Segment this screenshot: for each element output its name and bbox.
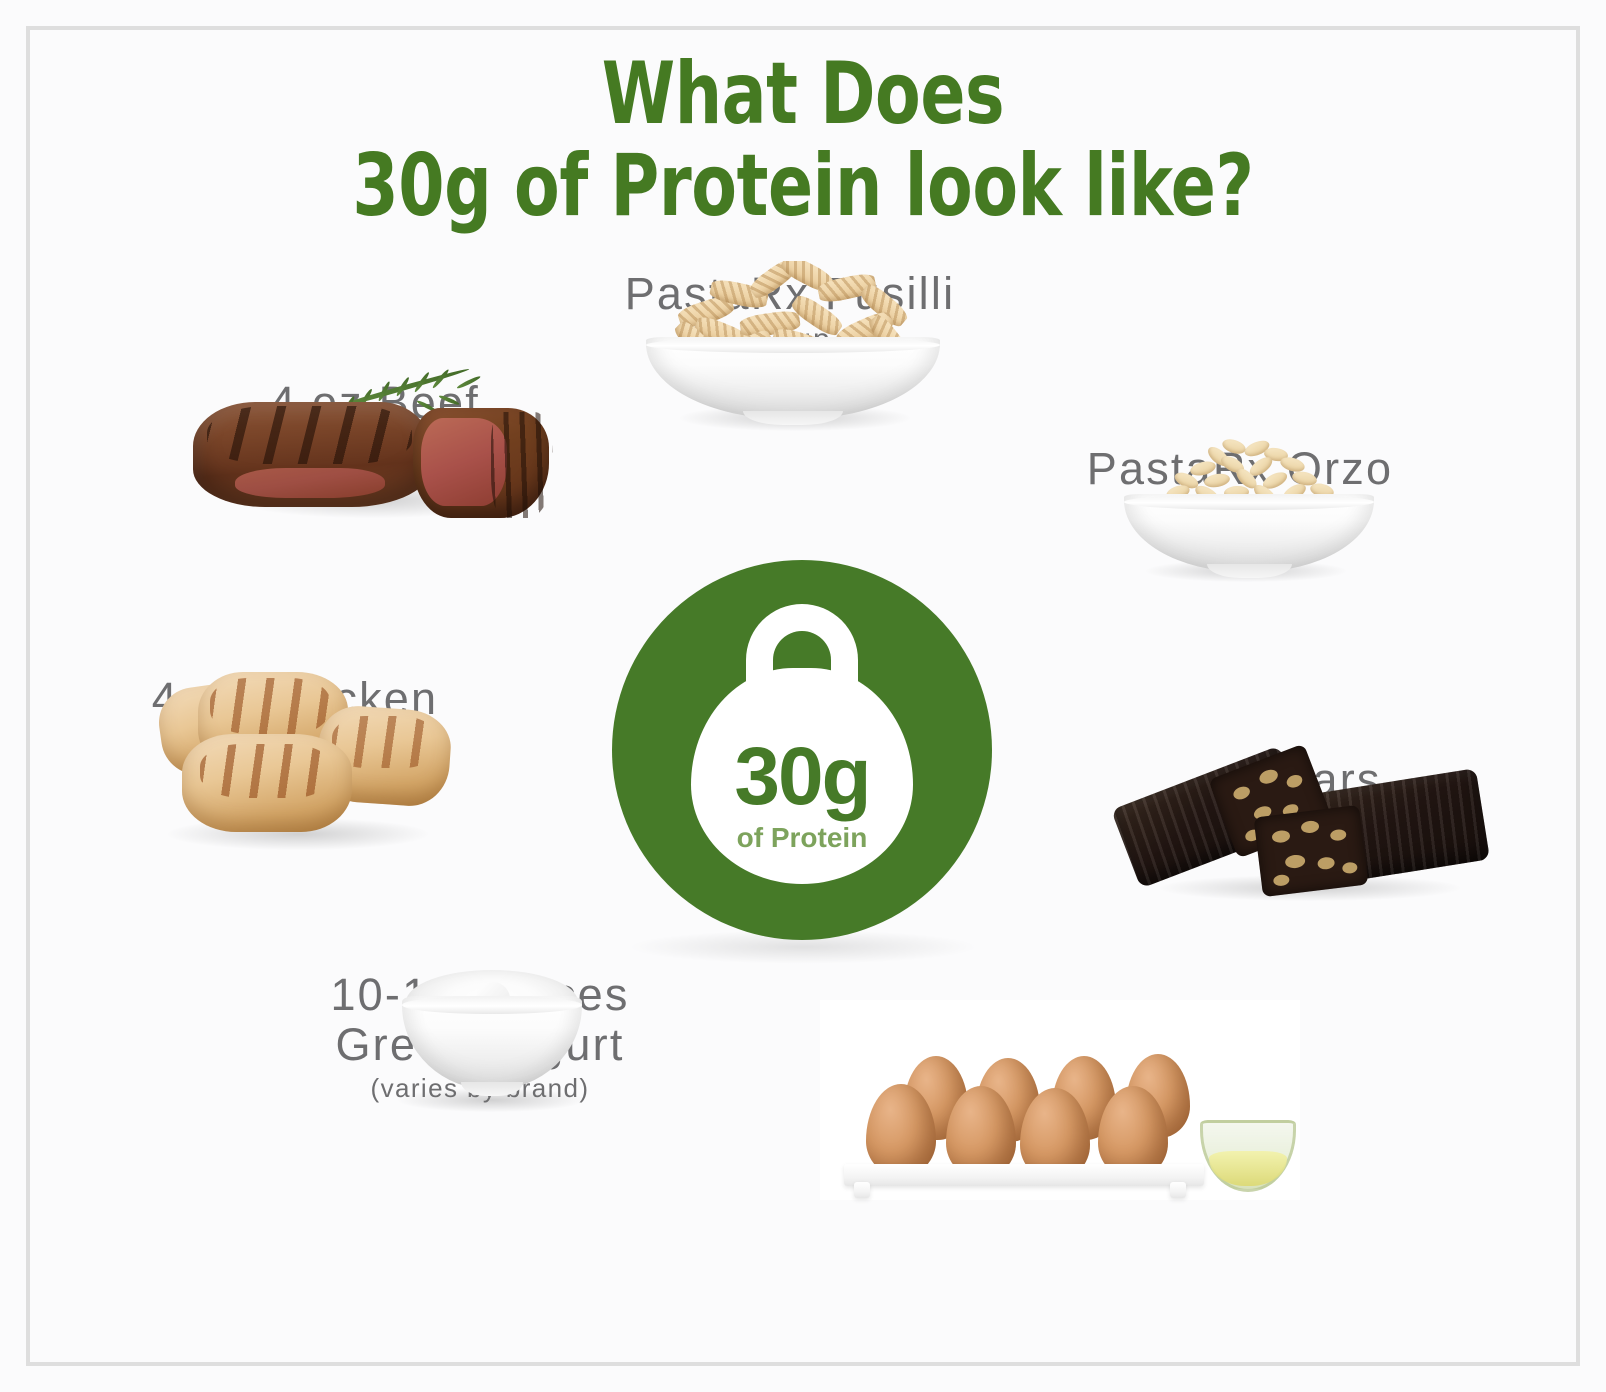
item-eggs: 8 Egg Whites bbox=[820, 1000, 1300, 1056]
title-highlight: 30g of Protein bbox=[352, 136, 882, 236]
grilled-chicken-pieces-photo bbox=[60, 660, 530, 860]
title-line-1: What Does bbox=[112, 52, 1493, 136]
item-fusilli: PastaRx Fusilli 1 cup bbox=[560, 255, 1020, 357]
badge-amount: 30g bbox=[612, 736, 992, 818]
protein-badge: 30g of Protein bbox=[612, 560, 992, 940]
title-tail: look like? bbox=[882, 136, 1254, 236]
bowl-of-orzo-pasta-photo bbox=[1020, 432, 1460, 582]
item-chicken: 4 oz Chicken bbox=[60, 660, 530, 724]
chocolate-protein-bars-photo bbox=[1110, 745, 1510, 910]
title-line-2: 30g of Protein look like? bbox=[112, 144, 1493, 228]
bowl-of-fusilli-pasta-photo bbox=[560, 255, 1020, 430]
brown-eggs-on-tray-photo bbox=[820, 1000, 1300, 1200]
item-bars: 2 Bars bbox=[1110, 745, 1510, 805]
badge-caption: of Protein bbox=[612, 822, 992, 854]
item-yogurt: 10-12 ounces Greek Yogurt (varies by bra… bbox=[260, 960, 700, 1103]
page-title: What Does 30g of Protein look like? bbox=[0, 52, 1606, 229]
infographic-poster: What Does 30g of Protein look like? bbox=[0, 0, 1606, 1392]
bowl-of-greek-yogurt-photo bbox=[260, 960, 700, 1115]
item-beef: 4 oz Beef bbox=[175, 360, 575, 428]
grilled-steak-photo bbox=[175, 360, 575, 525]
item-orzo: PastaRx Orzo ½ cup bbox=[1020, 432, 1460, 532]
